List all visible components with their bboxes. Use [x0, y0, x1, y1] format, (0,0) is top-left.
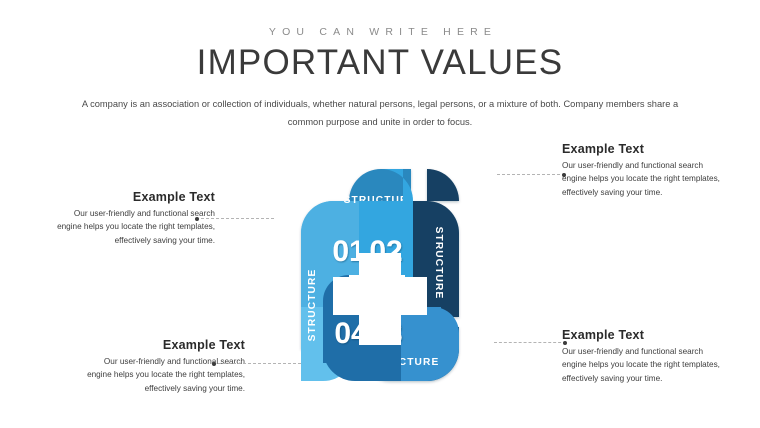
callout-body-3: Our user-friendly and functional search … — [562, 345, 722, 385]
callout-body-4: Our user-friendly and functional search … — [85, 355, 245, 395]
callout-body-1: Our user-friendly and functional search … — [55, 207, 215, 247]
page-title: IMPORTANT VALUES — [0, 45, 760, 82]
connector-dot-4 — [212, 362, 216, 366]
intro-paragraph: A company is an association or collectio… — [78, 95, 683, 131]
segment-02-band — [427, 169, 459, 201]
cross-diagram: STRUCTURE 01 STRUCTURE 02 STRUCTURE 03 — [255, 155, 505, 395]
connector-line-2 — [497, 174, 565, 176]
segment-04-band-label: STRUCTURE — [307, 269, 318, 342]
callout-title-1: Example Text — [55, 190, 215, 204]
callout-title-4: Example Text — [85, 338, 245, 352]
callout-block-3: Example Text Our user-friendly and funct… — [562, 328, 722, 385]
callout-block-4: Example Text Our user-friendly and funct… — [85, 338, 245, 395]
eyebrow-text: YOU CAN WRITE HERE — [0, 26, 760, 38]
callout-block-1: Example Text Our user-friendly and funct… — [55, 190, 215, 247]
connector-dot-1 — [195, 217, 199, 221]
callout-body-2: Our user-friendly and functional search … — [562, 159, 722, 199]
page-header: YOU CAN WRITE HERE IMPORTANT VALUES A co… — [0, 0, 760, 131]
connector-dot-2 — [562, 173, 566, 177]
callout-title-3: Example Text — [562, 328, 722, 342]
segment-02-band-label: STRUCTURE — [433, 227, 444, 300]
callout-block-2: Example Text Our user-friendly and funct… — [562, 142, 722, 199]
connector-dot-3 — [563, 341, 567, 345]
callout-title-2: Example Text — [562, 142, 722, 156]
